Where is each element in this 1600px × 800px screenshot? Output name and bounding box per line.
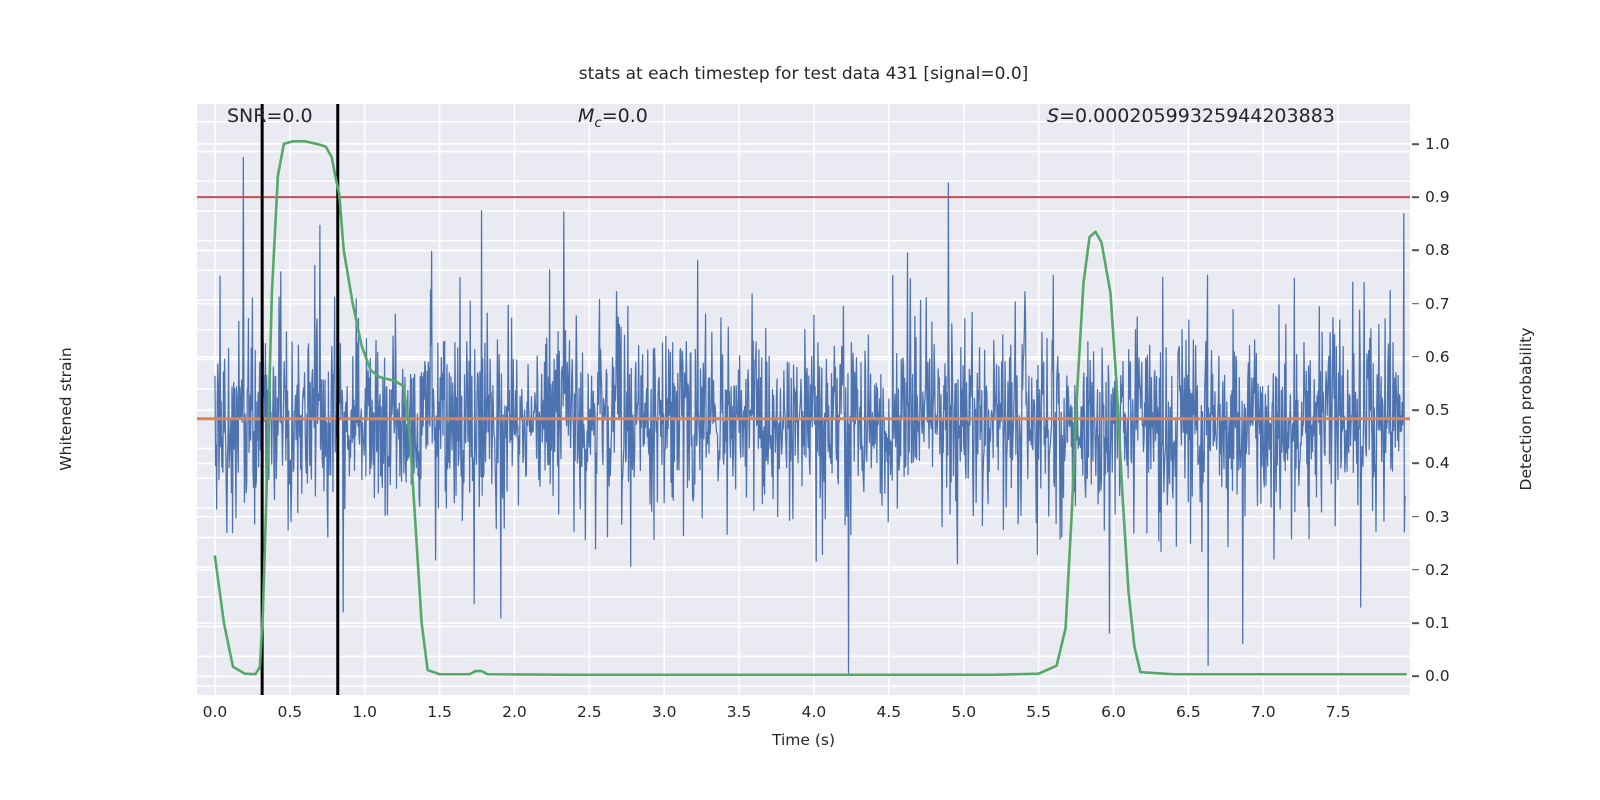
y-axis-right-tick-mark-3	[1412, 303, 1419, 305]
y-axis-left-label: Whitened strain	[57, 279, 75, 539]
y-axis-right-tick-mark-2	[1412, 250, 1419, 252]
y-axis-right-tick-label-7: 0.3	[1425, 508, 1485, 526]
plot-area[interactable]: SNR=0.0 Mc=0.0 S=0.00020599325944203883 …	[197, 104, 1410, 695]
x-axis-tick-label-14: 7.0	[1233, 703, 1293, 721]
y-axis-right-tick-label-0: 1.0	[1425, 135, 1485, 153]
annotation-snr: SNR=0.0	[227, 105, 313, 127]
x-axis-tick-label-6: 3.0	[634, 703, 694, 721]
y-axis-right-tick-label-3: 0.7	[1425, 295, 1485, 313]
y-axis-right-tick-mark-7	[1412, 516, 1419, 518]
x-axis-tick-label-8: 4.0	[784, 703, 844, 721]
y-axis-right-tick-mark-9	[1412, 622, 1419, 624]
y-axis-right-tick-label-9: 0.1	[1425, 614, 1485, 632]
x-axis-tick-label-11: 5.5	[1009, 703, 1069, 721]
x-axis-tick-label-4: 2.0	[484, 703, 544, 721]
y-axis-right-tick-label-4: 0.6	[1425, 348, 1485, 366]
x-axis-tick-label-3: 1.5	[410, 703, 470, 721]
chart-title: stats at each timestep for test data 431…	[197, 64, 1410, 84]
y-axis-right-tick-mark-1	[1412, 196, 1419, 198]
y-axis-right-tick-label-1: 0.9	[1425, 188, 1485, 206]
annotation-statistic-symbol: S	[1047, 105, 1059, 127]
y-axis-right-tick-mark-10	[1412, 676, 1419, 678]
y-axis-right-tick-label-2: 0.8	[1425, 241, 1485, 259]
x-axis-tick-label-12: 6.0	[1083, 703, 1143, 721]
y-axis-right-tick-mark-6	[1412, 463, 1419, 465]
annotation-chirp-mass-subscript: c	[594, 116, 601, 131]
y-axis-right-tick-mark-5	[1412, 409, 1419, 411]
x-axis-tick-label-7: 3.5	[709, 703, 769, 721]
x-axis-tick-label-9: 4.5	[859, 703, 919, 721]
y-axis-right-tick-mark-4	[1412, 356, 1419, 358]
x-axis-tick-label-1: 0.5	[260, 703, 320, 721]
x-axis-tick-label-15: 7.5	[1308, 703, 1368, 721]
y-axis-right-tick-mark-8	[1412, 569, 1419, 571]
annotation-chirp-mass-symbol: M	[578, 105, 594, 127]
y-axis-right-tick-mark-0	[1412, 143, 1419, 145]
x-axis-tick-label-5: 2.5	[559, 703, 619, 721]
annotation-statistic: S=0.00020599325944203883	[1047, 105, 1335, 127]
matplotlib-figure: stats at each timestep for test data 431…	[0, 0, 1600, 800]
x-axis-label: Time (s)	[197, 731, 1410, 749]
x-axis-tick-label-13: 6.5	[1158, 703, 1218, 721]
x-axis-tick-label-10: 5.0	[934, 703, 994, 721]
annotation-statistic-value: =0.00020599325944203883	[1059, 105, 1335, 127]
x-axis-tick-label-2: 1.0	[335, 703, 395, 721]
annotation-chirp-mass-value: =0.0	[602, 105, 648, 127]
annotation-chirp-mass: Mc=0.0	[578, 105, 648, 131]
plot-canvas	[197, 104, 1410, 695]
y-axis-right-tick-label-8: 0.2	[1425, 561, 1485, 579]
y-axis-right-tick-label-10: 0.0	[1425, 667, 1485, 685]
y-axis-right-tick-label-5: 0.5	[1425, 401, 1485, 419]
y-axis-right-tick-label-6: 0.4	[1425, 454, 1485, 472]
y-axis-right-label: Detection probability	[1517, 279, 1535, 539]
x-axis-tick-label-0: 0.0	[185, 703, 245, 721]
